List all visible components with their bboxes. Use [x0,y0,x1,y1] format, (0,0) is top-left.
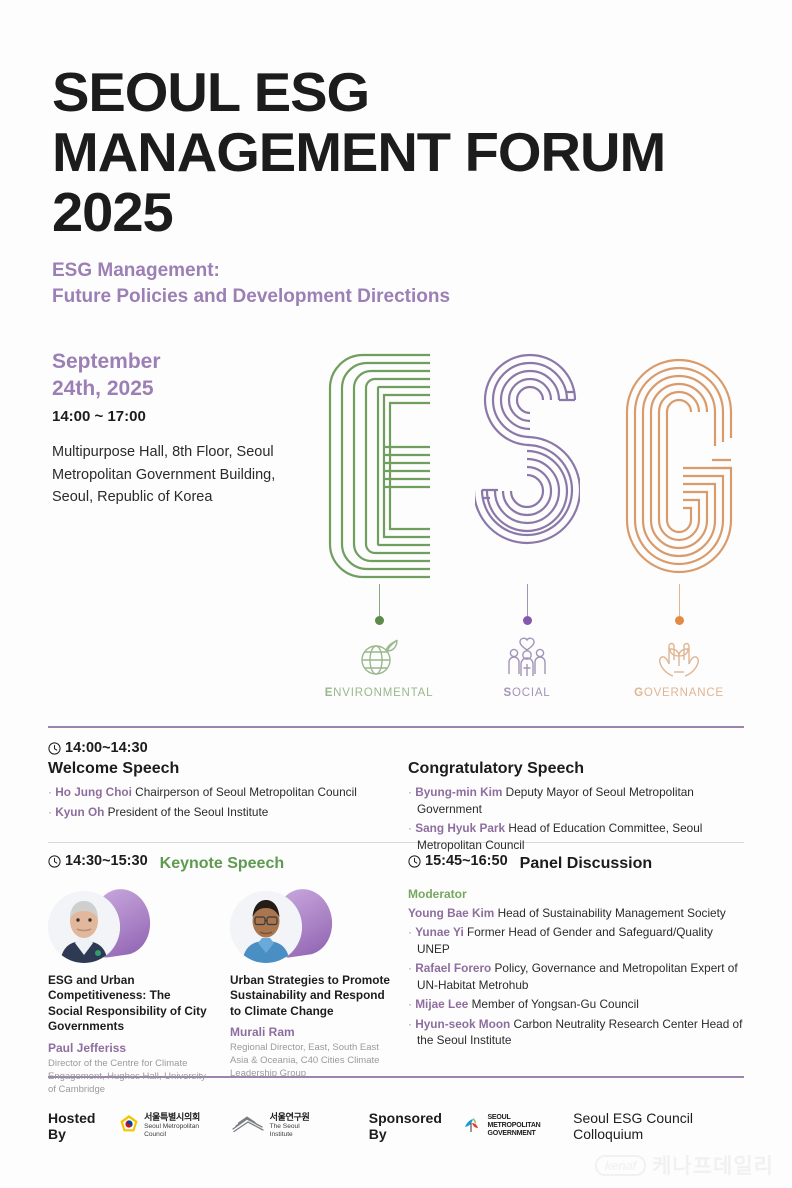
poster-title-line-1: SEOUL ESG [52,62,766,122]
keynote-card: ESG and Urban Competitiveness: The Socia… [48,887,208,1096]
speaker-name: Sang Hyuk Park [415,821,505,835]
watermark-badge: kenaf [595,1155,646,1176]
section-congratulatory-speech: Congratulatory Speech · Byung-min Kim De… [408,760,748,856]
poster-footer: Hosted By 서울특별시의회 Seoul Metropolitan Cou… [48,1110,744,1142]
esg-label-cap-g: G [634,687,644,699]
esg-connector-line-g [679,584,680,616]
panel-time: 15:45~16:50 [408,853,508,869]
panelist-name: Rafael Forero [415,961,491,975]
bullet-icon: · [48,805,52,819]
speaker-photo-paul-jefferiss [48,887,158,965]
list-item: · Byung-min Kim Deputy Mayor of Seoul Me… [408,784,748,817]
keynote-speaker-name: Paul Jefferiss [48,1041,208,1055]
esg-label-cap-s: S [504,687,512,699]
subtitle-line-2: Future Policies and Development Directio… [52,284,752,310]
clock-icon [48,742,61,755]
logo-seoul-metropolitan-government: SEOUL METROPOLITAN GOVERNMENT [462,1114,553,1139]
panelist-name: Yunae Yi [415,925,464,939]
logo-seoul-institute: 서울연구원 The Seoul Institute [231,1113,314,1139]
event-venue: Multipurpose Hall, 8th Floor, Seoul Metr… [52,441,292,509]
avatar [48,891,120,963]
congratulatory-title: Congratulatory Speech [408,760,748,778]
hosted-by-label: Hosted By [48,1110,109,1142]
esg-letter-g [604,352,754,582]
esg-dot-g [675,616,684,625]
bullet-icon: · [408,821,412,835]
esg-column-environmental: ENVIRONMENTAL [304,352,454,699]
hands-plant-icon [604,631,754,683]
moderator-role: Head of Sustainability Management Societ… [498,906,726,920]
list-item: · Rafael Forero Policy, Governance and M… [408,960,748,993]
poster-header: SEOUL ESG MANAGEMENT FORUM 2025 ESG Mana… [52,62,752,310]
smg-logo-line-1: SEOUL METROPOLITAN [487,1114,540,1129]
panelist-name: Mijae Lee [415,997,468,1011]
list-item: · Hyun-seok Moon Carbon Neutrality Resea… [408,1016,748,1049]
list-item: · Yunae Yi Former Head of Gender and Saf… [408,924,748,957]
section-keynote-speech: 14:30~15:30 Keynote Speech [48,853,398,1096]
council-logo-ko: 서울특별시의회 [144,1112,200,1122]
esg-connector-line-e [379,584,380,616]
list-item: · Mijae Lee Member of Yongsan-Gu Council [408,996,748,1013]
globe-leaf-icon [304,631,454,683]
moderator-row: Young Bae Kim Head of Sustainability Man… [408,905,748,922]
welcome-time-text: 14:00~14:30 [65,740,148,756]
welcome-title: Welcome Speech [48,760,398,778]
keynote-speaker-affiliation: Director of the Centre for Climate Engag… [48,1057,208,1096]
event-date-line-1: September [52,348,292,375]
esg-dot-s [523,616,532,625]
keynote-talk-title: Urban Strategies to Promote Sustainabili… [230,973,390,1020]
council-logo-en: Seoul Metropolitan Council [144,1123,199,1138]
keynote-speaker-affiliation: Regional Director, East, South East Asia… [230,1041,390,1080]
clock-icon [48,855,61,868]
smg-logo-line-2: GOVERNMENT [487,1130,535,1137]
institute-logo-text: 서울연구원 The Seoul Institute [270,1113,314,1139]
panelist-role: Member of Yongsan-Gu Council [472,997,639,1011]
welcome-speaker-list: · Ho Jung Choi Chairperson of Seoul Metr… [48,784,398,820]
poster-subtitle: ESG Management: Future Policies and Deve… [52,258,752,310]
speaker-photo-murali-ram [230,887,340,965]
keynote-time-text: 14:30~15:30 [65,853,148,869]
institute-emblem-icon [231,1115,265,1138]
esg-column-social: SOCIAL [452,352,602,699]
keynote-time: 14:30~15:30 [48,853,148,869]
event-time: 14:00 ~ 17:00 [52,408,292,425]
speaker-name: Byung-min Kim [415,785,502,799]
speaker-role: Chairperson of Seoul Metropolitan Counci… [135,785,357,799]
congratulatory-speaker-list: · Byung-min Kim Deputy Mayor of Seoul Me… [408,784,748,853]
section-welcome-speech: 14:00~14:30 Welcome Speech · Ho Jung Cho… [48,740,398,823]
moderator-name: Young Bae Kim [408,906,494,920]
smg-logo-text: SEOUL METROPOLITAN GOVERNMENT [487,1114,553,1138]
poster-title-line-3: 2025 [52,182,766,242]
speaker-role: President of the Seoul Institute [108,805,269,819]
list-item: · Kyun Oh President of the Seoul Institu… [48,804,398,821]
subtitle-line-1: ESG Management: [52,258,752,284]
speaker-name: Kyun Oh [55,805,104,819]
avatar [230,891,302,963]
section-panel-discussion: 15:45~16:50 Panel Discussion Moderator Y… [408,853,748,1052]
bullet-icon: · [408,1017,412,1031]
list-item: · Ho Jung Choi Chairperson of Seoul Metr… [48,784,398,801]
esg-label-rest-s: OCIAL [512,687,551,699]
divider-top [48,726,744,728]
smg-emblem-icon [462,1114,482,1139]
keynote-header: 14:30~15:30 Keynote Speech [48,853,398,873]
sponsored-by-label: Sponsored By [369,1110,453,1142]
poster-title-line-2: MANAGEMENT FORUM [52,122,766,182]
esg-letter-e [304,352,454,582]
council-emblem-icon [119,1114,139,1139]
keynote-talk-list: ESG and Urban Competitiveness: The Socia… [48,887,398,1096]
esg-label-social: SOCIAL [452,687,602,699]
welcome-time: 14:00~14:30 [48,740,398,756]
event-date: September 24th, 2025 [52,348,292,402]
event-date-line-2: 24th, 2025 [52,375,292,402]
colloquium-label: Seoul ESG Council Colloquium [573,1110,744,1142]
bullet-icon: · [408,997,412,1011]
esg-connector-line-s [527,584,528,616]
esg-label-cap-e: E [325,687,333,699]
bullet-icon: · [408,925,412,939]
panel-people-list: Moderator Young Bae Kim Head of Sustaina… [408,887,748,1049]
esg-graphic: ENVIRONMENTAL [300,352,752,692]
esg-letter-s [452,352,602,582]
keynote-card: Urban Strategies to Promote Sustainabili… [230,887,390,1096]
logo-seoul-metropolitan-council: 서울특별시의회 Seoul Metropolitan Council [119,1113,211,1139]
esg-label-environmental: ENVIRONMENTAL [304,687,454,699]
institute-logo-ko: 서울연구원 [270,1112,310,1122]
moderator-label: Moderator [408,887,748,901]
esg-label-rest-e: NVIRONMENTAL [333,687,433,699]
list-item: · Sang Hyuk Park Head of Education Commi… [408,820,748,853]
event-info-block: September 24th, 2025 14:00 ~ 17:00 Multi… [52,348,292,509]
keynote-title: Keynote Speech [160,855,284,873]
esg-label-rest-g: OVERNANCE [644,687,724,699]
panel-title: Panel Discussion [520,855,653,873]
clock-icon [408,855,421,868]
panelist-name: Hyun-seok Moon [415,1017,510,1031]
watermark: kenaf 케나프데일리 [595,1150,774,1180]
people-heart-icon [452,631,602,683]
esg-dot-e [375,616,384,625]
institute-logo-en: The Seoul Institute [270,1123,300,1138]
bullet-icon: · [48,785,52,799]
watermark-korean: 케나프데일리 [652,1150,774,1180]
bullet-icon: · [408,785,412,799]
speaker-name: Ho Jung Choi [55,785,132,799]
esg-column-governance: GOVERNANCE [604,352,754,699]
esg-label-governance: GOVERNANCE [604,687,754,699]
bullet-icon: · [408,961,412,975]
poster-root: SEOUL ESG MANAGEMENT FORUM 2025 ESG Mana… [0,0,792,1188]
keynote-talk-title: ESG and Urban Competitiveness: The Socia… [48,973,208,1035]
panel-time-text: 15:45~16:50 [425,853,508,869]
panel-header: 15:45~16:50 Panel Discussion [408,853,748,873]
keynote-speaker-name: Murali Ram [230,1025,390,1039]
council-logo-text: 서울특별시의회 Seoul Metropolitan Council [144,1113,211,1139]
